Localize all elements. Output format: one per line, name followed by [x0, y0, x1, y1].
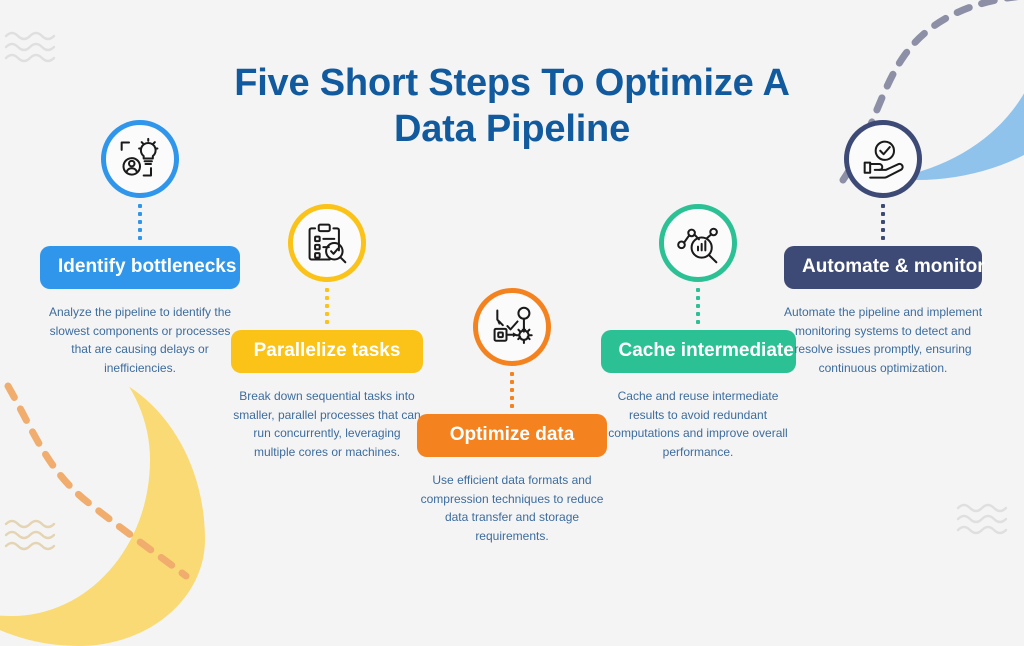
clipboard-magnifier-icon — [305, 221, 349, 265]
step-3-description: Use efficient data formats and compressi… — [417, 471, 607, 545]
step-1-connector — [138, 198, 142, 246]
wave-lines-bottom-left-icon — [4, 518, 58, 552]
flowchart-gear-icon — [490, 305, 534, 349]
step-5-label[interactable]: Automate & monitor — [784, 246, 982, 289]
step-2-icon-circle — [288, 204, 366, 282]
step-1-icon-circle — [101, 120, 179, 198]
step-5-description: Automate the pipeline and implement moni… — [783, 303, 983, 377]
person-lightbulb-icon — [118, 137, 162, 181]
hand-checkmark-icon — [861, 137, 905, 181]
network-chart-magnifier-icon — [676, 221, 720, 265]
step-4-connector — [696, 282, 700, 330]
step-3-connector — [510, 366, 514, 414]
step-4-description: Cache and reuse intermediate results to … — [599, 387, 797, 461]
step-5-connector — [881, 198, 885, 246]
infographic-canvas: Five Short Steps To Optimize A Data Pipe… — [0, 0, 1024, 576]
step-5-icon-circle — [844, 120, 922, 198]
wave-lines-top-left-icon — [4, 30, 58, 64]
page-title-line-1: Five Short Steps To Optimize A — [140, 60, 884, 106]
step-2-connector — [325, 282, 329, 330]
step-4-icon-circle — [659, 204, 737, 282]
wave-lines-bottom-right-icon — [956, 502, 1010, 536]
step-automate-monitor[interactable]: Automate & monitor Automate the pipeline… — [758, 120, 1008, 377]
step-3-icon-circle — [473, 288, 551, 366]
